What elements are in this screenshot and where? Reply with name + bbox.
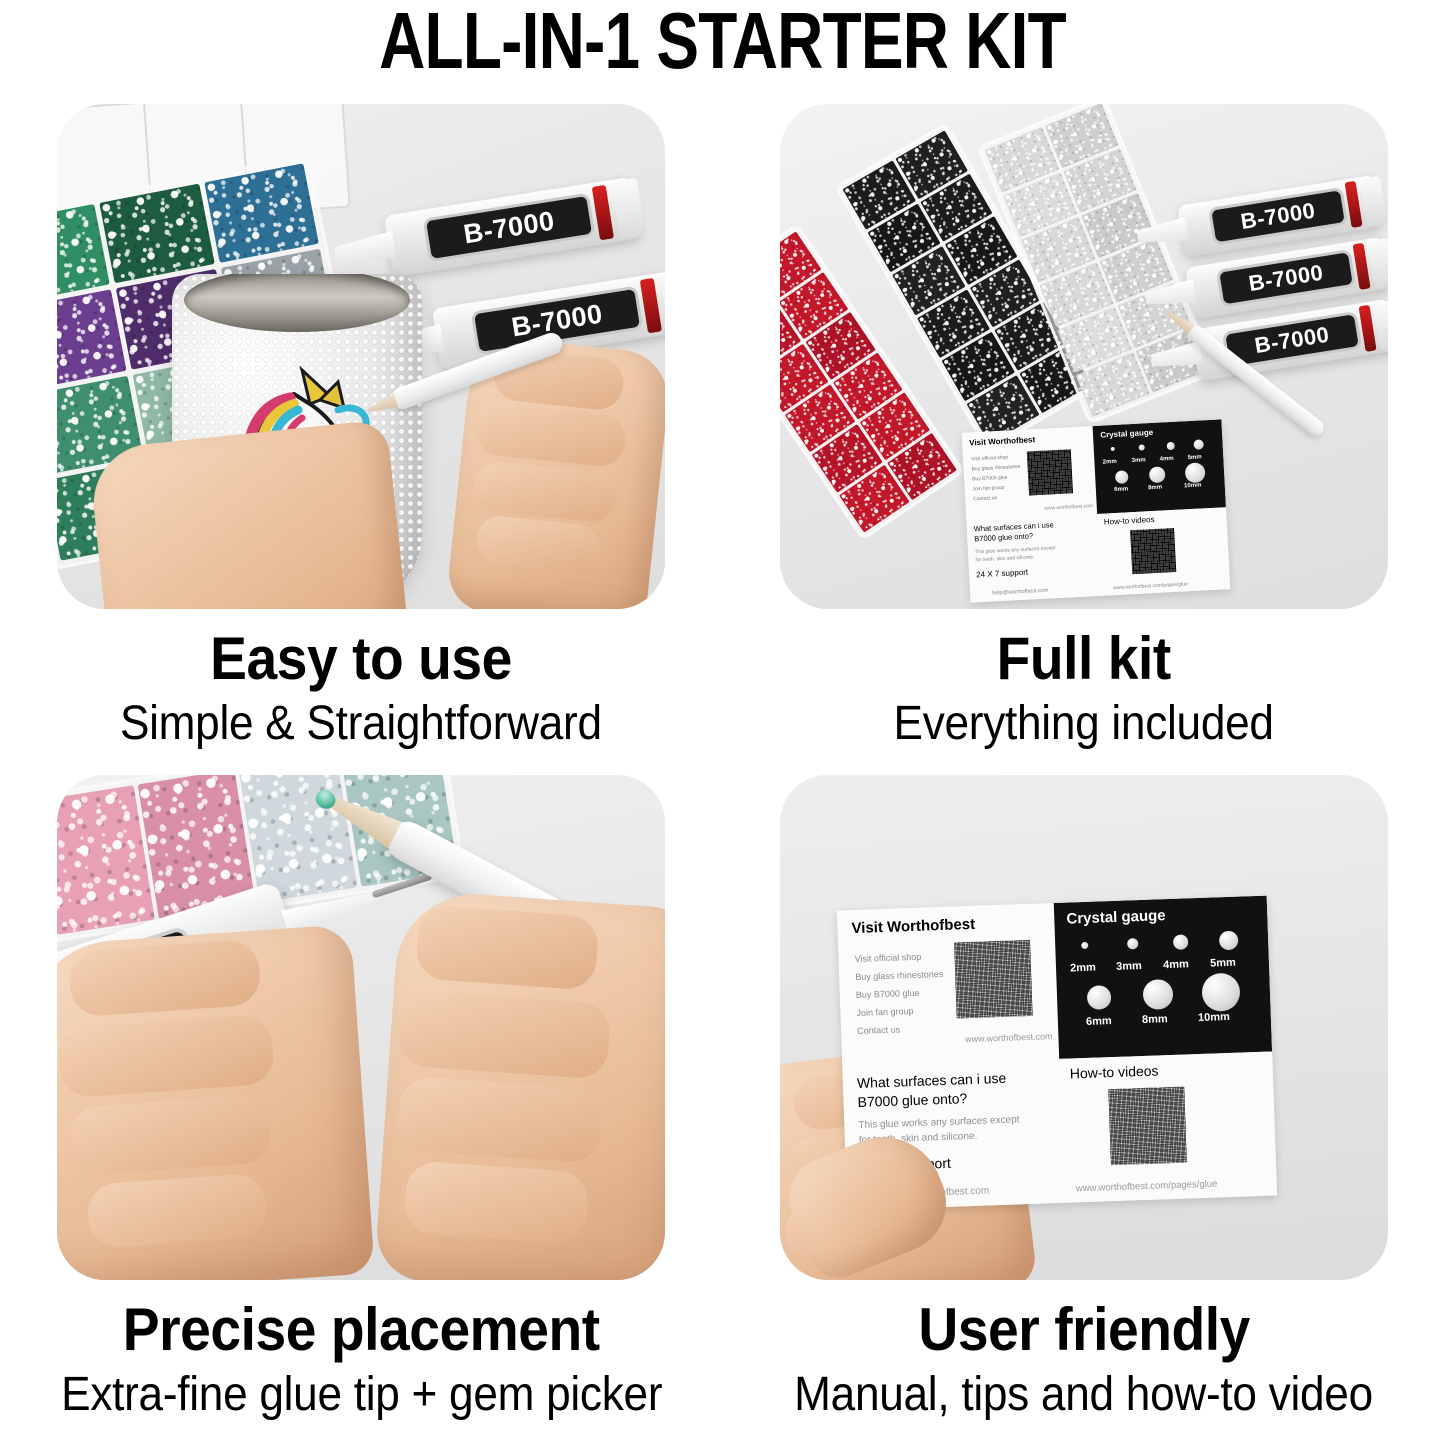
tray-compartment	[204, 163, 319, 263]
gem-sample-3mm	[1127, 938, 1138, 949]
card-question-line2: B7000 glue onto?	[857, 1088, 1007, 1112]
card-visit-title: Visit Worthofbest	[851, 916, 975, 937]
gauge-size-label: 6mm	[1114, 486, 1128, 493]
gem-sample-10mm	[1201, 973, 1240, 1012]
feature-image-precise-placement: B-7000	[57, 775, 665, 1280]
hand-left	[88, 419, 410, 609]
crystal-gauge-title: Crystal gauge	[1066, 907, 1166, 927]
finger	[397, 989, 612, 1079]
gauge-size-label: 5mm	[1187, 454, 1201, 461]
card-visit-title: Visit Worthofbest	[969, 435, 1035, 447]
card-quadrant-crystal-gauge: Crystal gauge 2mm 3mm 4mm 5mm 6mm 8mm	[1093, 419, 1226, 514]
gem-sample-5mm	[1219, 931, 1239, 951]
qr-code-videos	[1130, 528, 1176, 574]
page-title: ALL-IN-1 STARTER KIT	[145, 0, 1301, 86]
qr-code-shop	[1027, 449, 1073, 495]
card-visit-url: www.worthofbest.com	[1044, 503, 1093, 512]
gem-sample-8mm	[1142, 979, 1173, 1010]
tray-compartment	[100, 183, 215, 283]
gem-sample-4mm	[1173, 934, 1189, 950]
feature-image-full-kit: B-7000 B-7000 B-7000	[780, 104, 1388, 609]
gauge-size-label: 3mm	[1131, 457, 1145, 464]
gauge-size-label: 6mm	[1086, 1015, 1112, 1028]
card-bullet: Contact us	[973, 492, 1022, 505]
feature-subheading-full-kit: Everything included	[723, 696, 1445, 751]
card-visit-url: www.worthofbest.com	[965, 1031, 1053, 1044]
finger	[403, 1160, 590, 1245]
crystal-gauge-title: Crystal gauge	[1100, 428, 1153, 440]
card-howto-url: www.worthofbest.com/pages/glue	[1113, 581, 1188, 591]
card-quadrant-surfaces: What surfaces can i use B7000 glue onto?…	[966, 514, 1101, 602]
card-howto-title: How-to videos	[1103, 515, 1154, 527]
card-howto-url: www.worthofbest.com/pages/glue	[1075, 1178, 1217, 1194]
feature-subheading-easy-to-use: Simple & Straightforward	[0, 696, 723, 751]
gauge-size-label: 5mm	[1210, 957, 1236, 970]
finger	[86, 1173, 268, 1249]
gem-sample-4mm	[1167, 442, 1175, 450]
feature-grid: B-7000 B-7000	[0, 96, 1445, 1438]
gauge-size-label: 10mm	[1198, 1011, 1230, 1024]
tray-compartment	[57, 289, 127, 389]
hand-left	[57, 924, 375, 1280]
glue-cap	[1367, 238, 1388, 289]
card-quadrant-how-to: How-to videos www.worthofbest.com/pages/…	[1059, 1051, 1277, 1203]
glue-red-stripe	[640, 278, 662, 334]
gauge-size-label: 8mm	[1142, 1013, 1168, 1026]
finger	[474, 514, 602, 575]
qr-code-videos	[1108, 1086, 1187, 1165]
gem-sample-2mm	[1111, 447, 1115, 451]
finger	[415, 904, 600, 990]
feature-card-easy-to-use: B-7000 B-7000	[0, 96, 723, 767]
card-bullet: Buy glass rhinestones	[855, 965, 944, 986]
instruction-card-small: Visit Worthofbest Visit official shop Bu…	[961, 419, 1230, 602]
gauge-size-label: 4mm	[1163, 958, 1189, 971]
finger	[474, 401, 629, 468]
gem-sample-6mm	[1115, 470, 1129, 484]
feature-image-easy-to-use: B-7000 B-7000	[57, 104, 665, 609]
finger	[472, 459, 618, 524]
qr-code-shop	[954, 940, 1033, 1019]
gem-sample-5mm	[1193, 439, 1204, 450]
gem-sample-8mm	[1149, 466, 1166, 483]
feature-subheading-precise-placement: Extra-fine glue tip + gem picker	[0, 1367, 723, 1422]
feature-subheading-user-friendly: Manual, tips and how-to video	[723, 1367, 1445, 1422]
card-bullet: Contact us	[857, 1019, 946, 1040]
gem-sample-6mm	[1087, 985, 1112, 1010]
gauge-size-label: 2mm	[1070, 962, 1096, 975]
feature-heading-precise-placement: Precise placement	[0, 1295, 723, 1364]
card-quadrant-crystal-gauge: Crystal gauge 2mm 3mm 4mm 5mm 6mm 8mm	[1054, 896, 1272, 1059]
hand-right	[374, 889, 665, 1280]
feature-card-full-kit: B-7000 B-7000 B-7000	[723, 96, 1445, 767]
card-howto-title: How-to videos	[1069, 1062, 1158, 1081]
gem-sample-10mm	[1185, 462, 1206, 483]
finger	[69, 1094, 273, 1176]
card-support-email: help@worthofbest.com	[992, 588, 1049, 597]
finger	[57, 1014, 275, 1099]
feature-heading-full-kit: Full kit	[723, 624, 1445, 693]
feature-card-precise-placement: B-7000 Pr	[0, 767, 723, 1438]
gem-sample-2mm	[1081, 942, 1088, 949]
gauge-size-label: 4mm	[1159, 456, 1173, 463]
feature-image-user-friendly: Visit Worthofbest Visit official shop Bu…	[780, 775, 1388, 1280]
finger	[68, 938, 262, 1017]
gem-sample-3mm	[1139, 444, 1145, 450]
feature-heading-easy-to-use: Easy to use	[0, 624, 723, 693]
card-quadrant-visit: Visit Worthofbest Visit official shop Bu…	[961, 426, 1097, 521]
card-quadrant-how-to: How-to videos www.worthofbest.com/pages/…	[1097, 507, 1230, 595]
gauge-size-label: 3mm	[1116, 960, 1142, 973]
tumbler-rim	[184, 274, 410, 332]
glue-red-stripe	[592, 185, 614, 241]
card-quadrant-visit: Visit Worthofbest Visit official shop Bu…	[837, 903, 1059, 1066]
card-support-title: 24 X 7 support	[976, 568, 1028, 580]
gauge-size-label: 2mm	[1102, 459, 1116, 466]
feature-heading-user-friendly: User friendly	[723, 1295, 1445, 1364]
gauge-size-label: 8mm	[1148, 485, 1162, 492]
feature-card-user-friendly: Visit Worthofbest Visit official shop Bu…	[723, 767, 1445, 1438]
finger	[397, 1076, 604, 1164]
gauge-size-label: 10mm	[1184, 482, 1202, 489]
